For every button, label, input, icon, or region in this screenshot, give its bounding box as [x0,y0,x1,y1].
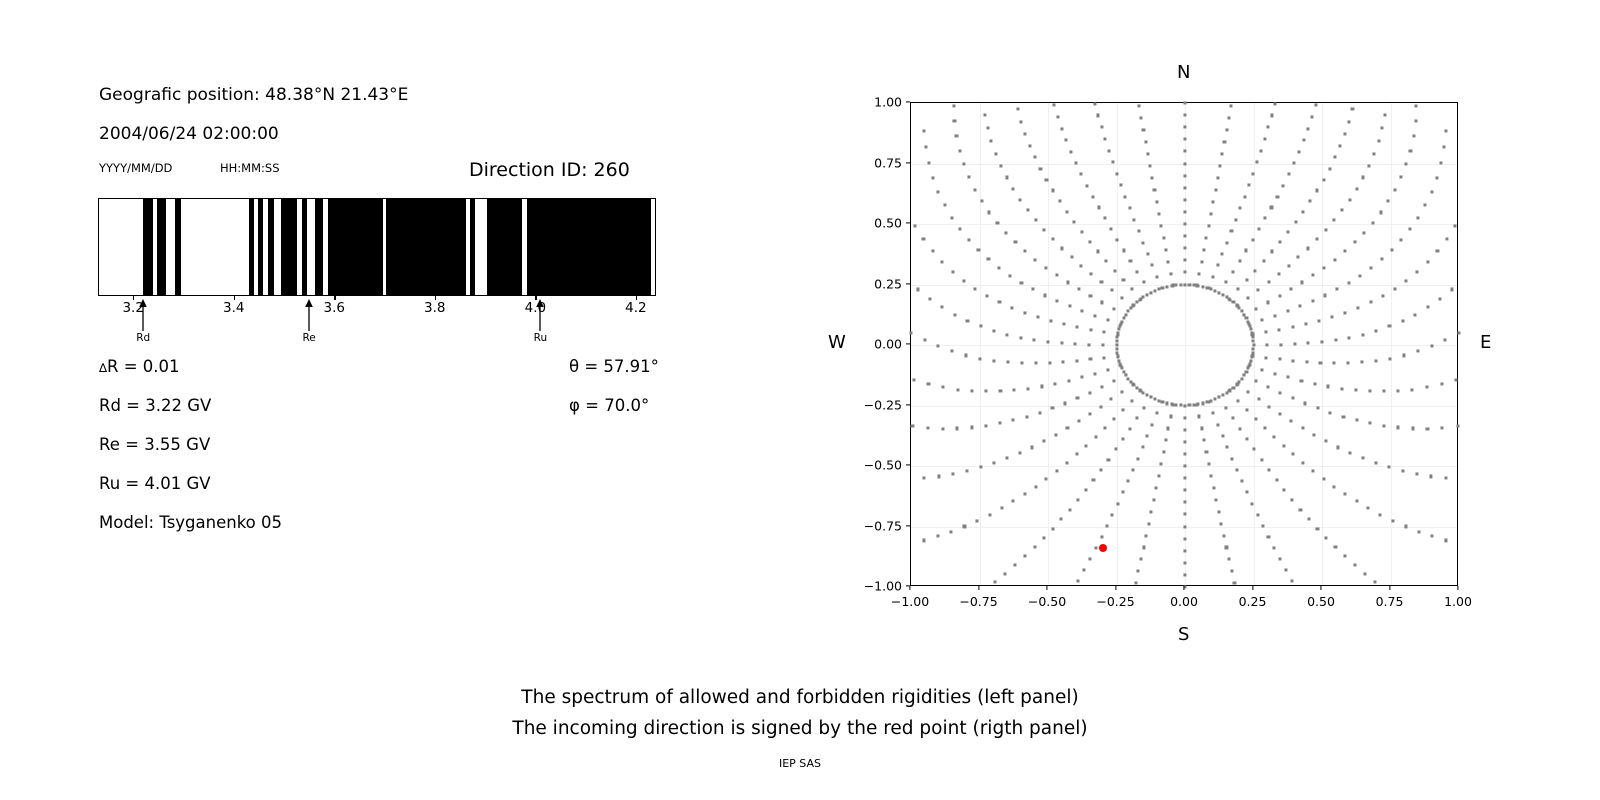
scatter-dot [1256,513,1259,516]
scatter-dot [1103,331,1106,334]
scatter-dot [1380,258,1383,261]
x-axis-tick-mark [1389,586,1390,590]
scatter-dot [1205,451,1208,454]
scatter-dot [1371,221,1374,224]
scatter-dot [1183,513,1186,516]
scatter-dot [1384,113,1387,116]
scatter-dot [1113,269,1116,272]
scatter-dot [936,535,939,538]
scatter-dot [1230,570,1233,573]
scatter-dot [1033,339,1036,342]
scatter-dot [1183,489,1186,492]
scatter-dot [1034,362,1037,365]
y-axis-tick-mark [906,222,910,223]
scatter-dot [1097,250,1100,253]
scatter-dot [1274,372,1277,375]
scatter-dot [1115,172,1118,175]
scatter-dot [1121,297,1124,300]
x-axis-tick-mark [1457,586,1458,590]
scatter-dot [1183,549,1186,552]
scatter-dot [1238,427,1241,430]
x-axis-tick-mark [1320,586,1321,590]
scatter-dot [1263,137,1266,140]
scatter-dot [1230,230,1233,233]
scatter-dot [1135,301,1138,304]
axis-tick-label: 3.8 [424,300,445,316]
scatter-dot [1248,323,1251,326]
scatter-dot [1348,336,1351,339]
scatter-dot [1314,104,1317,107]
scatter-dot [1175,283,1178,286]
scatter-dot [1455,378,1458,381]
scatter-dot [1155,275,1158,278]
scatter-dot [1183,561,1186,564]
scatter-dot [1066,281,1069,284]
x-axis-tick-label: 0.00 [1170,594,1198,609]
scatter-dot [1279,391,1282,394]
scatter-dot [1183,501,1186,504]
scatter-dot [1019,198,1022,201]
scatter-dot [1201,285,1204,288]
scatter-dot [1020,362,1023,365]
scatter-dot [983,113,986,116]
re-value: Re = 3.55 GV [99,435,210,454]
scatter-dot [1316,407,1319,410]
y-axis-tick-label: 0.75 [874,155,902,170]
scatter-dot [1277,273,1280,276]
scatter-dot [1088,413,1091,416]
scatter-dot [1111,513,1114,516]
scatter-dot [1290,579,1293,582]
scatter-dot [1131,382,1134,385]
scatter-dot [1121,491,1124,494]
scatter-dot [1248,364,1251,367]
scatter-dot [1267,126,1270,129]
scatter-dot [1134,581,1137,584]
scatter-dot [1341,209,1344,212]
scatter-dot [1064,402,1067,405]
scatter-dot [1344,311,1347,314]
scatter-dot [1144,141,1147,144]
scatter-dot [1051,189,1054,192]
scatter-dot [1453,225,1456,228]
scatter-dot [943,204,946,207]
scatter-dot [928,297,931,300]
scatter-dot [1060,127,1063,130]
scatter-dot [1306,127,1309,130]
scatter-dot [1417,530,1420,533]
scatter-dot [1255,161,1258,164]
scatter-dot [923,129,926,132]
scatter-dot [1160,463,1163,466]
scatter-dot [1260,458,1263,461]
scatter-dot [1183,537,1186,540]
scatter-dot [1058,200,1061,203]
scatter-dot [1417,216,1420,219]
scatter-dot [970,389,973,392]
scatter-dot [1348,198,1351,201]
scatter-dot [1034,258,1037,261]
scatter-dot [1044,266,1047,269]
scatter-dot [1116,502,1119,505]
model-value: Model: Tsyganenko 05 [99,513,282,532]
scatter-dot [1245,249,1248,252]
scatter-dot [1306,247,1309,250]
scatter-dot [1355,419,1358,422]
scatter-dot [1120,390,1123,393]
scatter-dot [1347,362,1350,365]
polar-plot-area [910,102,1458,586]
scatter-dot [1166,402,1169,405]
scatter-dot [1200,427,1203,430]
scatter-dot [1388,466,1391,469]
scatter-dot [1146,252,1149,255]
scatter-dot [1088,343,1091,346]
scatter-dot [1099,405,1102,408]
scatter-dot [1116,354,1119,357]
scatter-dot [1445,539,1448,542]
scatter-dot [1175,403,1178,406]
scatter-dot [1225,241,1228,244]
compass-north-label: N [1177,62,1190,83]
x-axis-tick-label: −0.50 [1028,594,1066,609]
scatter-dot [1094,435,1097,438]
scatter-dot [1119,364,1122,367]
scatter-dot [1425,386,1428,389]
scatter-dot [1239,207,1242,210]
scatter-dot [1303,402,1306,405]
scatter-dot [1438,297,1441,300]
scatter-dot [1291,326,1294,329]
scatter-dot [1005,231,1008,234]
scatter-dot [1115,347,1118,350]
scatter-dot [1128,427,1131,430]
ru-value: Ru = 4.01 GV [99,474,211,493]
scatter-dot [1080,230,1083,233]
scatter-dot [1263,426,1266,429]
scatter-dot [1016,108,1019,111]
scatter-dot [1119,323,1122,326]
scatter-dot [1311,299,1314,302]
scatter-dot [1323,294,1326,297]
scatter-dot [1227,117,1230,120]
scatter-dot [1111,161,1114,164]
scatter-dot [1045,178,1048,181]
scatter-dot [1334,156,1337,159]
scatter-dot [980,200,983,203]
scatter-dot [1299,508,1302,511]
scatter-dot [1267,535,1270,538]
scatter-dot [1139,390,1142,393]
scatter-dot [1401,319,1404,322]
forbidden-band [328,199,383,295]
gridline-vertical [1322,103,1323,585]
scatter-dot [1292,359,1295,362]
scatter-dot [1070,150,1073,153]
scatter-dot [1124,374,1127,377]
scatter-dot [1033,546,1036,549]
scatter-dot [941,260,944,263]
marker-arrow-re-icon [296,298,322,332]
scatter-dot [1038,411,1041,414]
scatter-dot [1183,464,1186,467]
scatter-dot [1218,396,1221,399]
scatter-dot [992,359,995,362]
x-axis-tick-label: −0.75 [959,594,997,609]
scatter-dot [1312,469,1315,472]
scatter-dot [1387,200,1390,203]
scatter-dot [1024,132,1027,135]
scatter-dot [999,390,1002,393]
scatter-dot [1252,343,1255,346]
scatter-dot [1444,477,1447,480]
scatter-dot [1113,417,1116,420]
scatter-dot [1060,342,1063,345]
scatter-dot [1336,446,1339,449]
scatter-dot [1014,241,1017,244]
scatter-dot [1344,493,1347,496]
scatter-dot [1169,415,1172,418]
scatter-dot [1430,475,1433,478]
x-axis-tick-mark [978,586,979,590]
scatter-dot [1214,188,1217,191]
scatter-dot [1142,546,1145,549]
gridline-vertical [1391,103,1392,585]
scatter-dot [1266,343,1269,346]
scatter-dot [942,386,945,389]
scatter-dot [1048,361,1051,364]
scatter-dot [1201,402,1204,405]
scatter-dot [1065,210,1068,213]
scatter-dot [1342,415,1345,418]
geographic-position-label: Geografic position: 48.38°N 21.43°E [99,85,408,105]
x-axis-tick-mark [1115,586,1116,590]
scatter-dot [1054,433,1057,436]
scatter-dot [1328,167,1331,170]
scatter-dot [1231,270,1234,273]
scatter-dot [1246,491,1249,494]
scatter-dot [1183,440,1186,443]
scatter-dot [1116,333,1119,336]
scatter-dot [1070,256,1073,259]
scatter-dot [1444,129,1447,132]
scatter-dot [1077,579,1080,582]
scatter-dot [1250,328,1253,331]
scatter-dot [1137,570,1140,573]
scatter-dot [1028,144,1031,147]
scatter-dot [950,216,953,219]
scatter-dot [987,258,990,261]
scatter-dot [1145,534,1148,537]
scatter-dot [1261,524,1264,527]
scatter-dot [1140,117,1143,120]
rigidity-spectrum-chart [98,198,656,296]
scatter-dot [1006,333,1009,336]
scatter-dot [977,248,980,251]
scatter-dot [1379,211,1382,214]
y-axis-tick-label: 0.00 [874,337,902,352]
scatter-dot [1291,397,1294,400]
scatter-dot [966,319,969,322]
scatter-dot [1279,343,1282,346]
scatter-dot [1302,139,1305,142]
scatter-dot [994,152,997,155]
scatter-dot [1319,361,1322,364]
scatter-dot [979,325,982,328]
scatter-dot [1106,368,1109,371]
rigidity-axis: 3.23.43.63.84.04.2RdReRu [98,296,656,356]
scatter-dot [1183,186,1186,189]
scatter-dot [1343,250,1346,253]
scatter-dot [1351,108,1354,111]
scatter-dot [941,427,944,430]
scatter-dot [1149,396,1152,399]
scatter-dot [1241,480,1244,483]
scatter-dot [1142,281,1145,284]
scatter-dot [993,580,996,583]
scatter-dot [1327,385,1330,388]
scatter-dot [966,469,969,472]
scatter-dot [1313,382,1316,385]
scatter-dot [1297,150,1300,153]
scatter-dot [1004,572,1007,575]
scatter-dot [1388,357,1391,360]
scatter-dot [1104,137,1107,140]
scatter-dot [1456,425,1459,428]
scatter-dot [1092,478,1095,481]
scatter-dot [1081,310,1084,313]
scatter-dot [996,221,999,224]
scatter-dot [1183,162,1186,165]
scatter-dot [1279,240,1282,243]
scatter-dot [1426,306,1429,309]
scatter-dot [1045,477,1048,480]
scatter-dot [1415,472,1418,475]
scatter-dot [1287,173,1290,176]
scatter-dot [1112,380,1115,383]
scatter-dot [1093,102,1096,105]
scatter-dot [1216,177,1219,180]
scatter-dot [1066,427,1069,430]
scatter-dot [1262,260,1265,263]
scatter-dot [1183,101,1186,104]
scatter-dot [979,357,982,360]
scatter-dot [1388,325,1391,328]
scatter-dot [1353,241,1356,244]
scatter-dot [1391,519,1394,522]
scatter-dot [1379,513,1382,516]
scatter-dot [1324,440,1327,443]
scatter-dot [1322,477,1325,480]
scatter-dot [1075,359,1078,362]
scatter-dot [917,288,920,291]
scatter-dot [1405,279,1408,282]
scatter-dot [1312,274,1315,277]
scatter-dot [1141,446,1144,449]
scatter-dot [952,472,955,475]
scatter-dot [1282,444,1285,447]
scatter-dot [951,350,954,353]
scatter-dot [1243,374,1246,377]
scatter-dot [1229,105,1232,108]
y-axis-tick-label: 0.50 [874,216,902,231]
scatter-dot [1238,260,1241,263]
scatter-dot [1019,336,1022,339]
scatter-dot [1167,427,1170,430]
scatter-dot [1042,537,1045,540]
scatter-dot [1122,408,1125,411]
scatter-dot [1302,461,1305,464]
scatter-dot [1440,383,1443,386]
scatter-dot [1062,361,1065,364]
scatter-dot [1355,500,1358,503]
scatter-dot [988,513,991,516]
scatter-dot [1142,406,1145,409]
scatter-dot [1316,527,1319,530]
scatter-dot [1188,283,1191,286]
scatter-dot [1155,412,1158,415]
scatter-dot [1153,398,1156,401]
scatter-dot [1183,150,1186,153]
scatter-dot [1164,248,1167,251]
scatter-dot [1251,354,1254,357]
marker-label-re: Re [302,332,315,344]
scatter-dot [1055,274,1058,277]
scatter-dot [1222,534,1225,537]
scatter-dot [1115,339,1118,342]
scatter-dot [1268,405,1271,408]
scatter-dot [1409,149,1412,152]
scatter-dot [1441,426,1444,429]
scatter-dot [1357,306,1360,309]
scatter-dot [1212,412,1215,415]
y-axis-tick-mark [906,525,910,526]
scatter-dot [1426,427,1429,430]
scatter-dot [1221,434,1224,437]
scatter-dot [912,378,915,381]
scatter-dot [1142,241,1145,244]
scatter-dot [1183,573,1186,576]
scatter-dot [1369,301,1372,304]
scatter-dot [1377,140,1380,143]
scatter-dot [1247,184,1250,187]
scatter-dot [1160,287,1163,290]
incoming-direction-point[interactable] [1099,544,1107,552]
scatter-dot [1151,264,1154,267]
scatter-dot [1254,269,1257,272]
gridline-horizontal [911,345,1457,346]
scatter-dot [1333,219,1336,222]
scatter-dot [979,466,982,469]
scatter-dot [1076,498,1079,501]
scatter-dot [1430,191,1433,194]
phi-value: φ = 70.0° [569,396,649,415]
scatter-dot [1258,228,1261,231]
scatter-dot [1131,399,1134,402]
scatter-dot [967,176,970,179]
scatter-dot [998,422,1001,425]
scatter-dot [1183,114,1186,117]
scatter-dot [1105,524,1108,527]
scatter-dot [1025,415,1028,418]
forbidden-band [315,199,323,295]
scatter-dot [1128,207,1131,210]
scatter-dot [1077,288,1080,291]
scatter-dot [1362,231,1365,234]
scatter-dot [1261,319,1264,322]
scatter-dot [910,331,913,334]
y-axis-tick-mark [906,162,910,163]
